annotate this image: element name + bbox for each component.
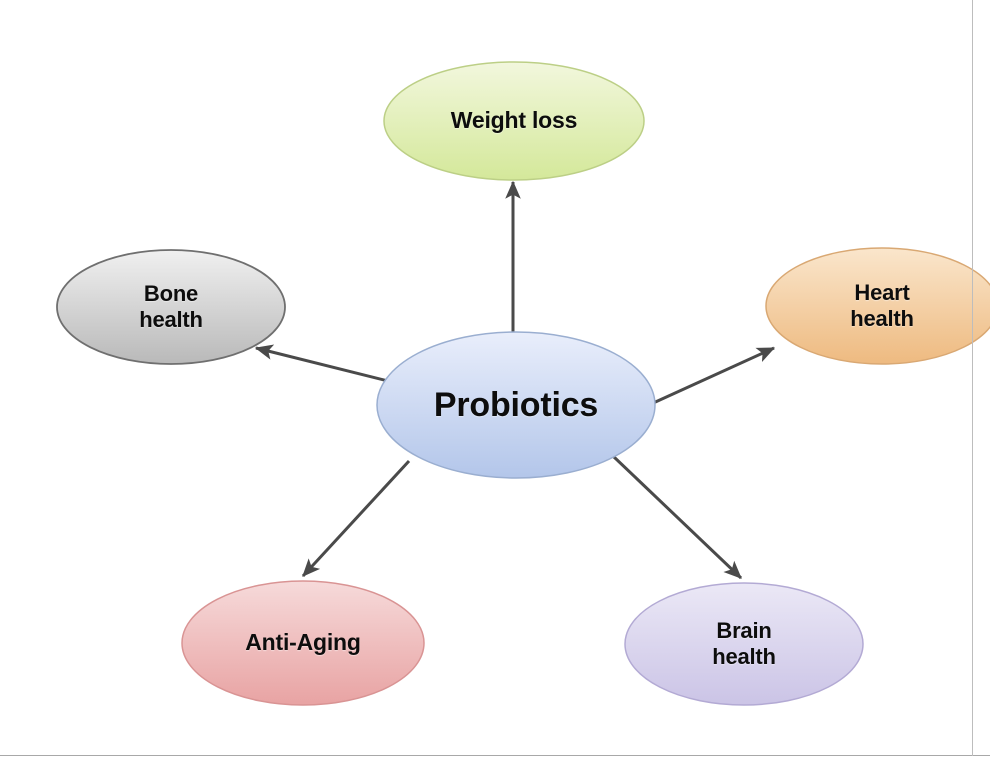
arrow-probiotics-to-heart-health — [651, 348, 774, 404]
arrow-probiotics-to-brain-health — [614, 457, 741, 578]
right-divider — [972, 0, 973, 756]
node-shape-heart-health[interactable] — [766, 248, 990, 364]
arrow-probiotics-to-anti-aging — [303, 461, 409, 576]
diagram-canvas: Probiotics Weight loss Bone health Heart… — [0, 0, 990, 764]
node-shape-weight-loss[interactable] — [384, 62, 644, 180]
diagram-svg — [0, 0, 990, 764]
node-shape-bone-health[interactable] — [57, 250, 285, 364]
node-shape-probiotics[interactable] — [377, 332, 655, 478]
arrow-probiotics-to-bone-health — [256, 348, 392, 382]
node-shape-anti-aging[interactable] — [182, 581, 424, 705]
bottom-divider — [0, 755, 990, 756]
node-shape-brain-health[interactable] — [625, 583, 863, 705]
